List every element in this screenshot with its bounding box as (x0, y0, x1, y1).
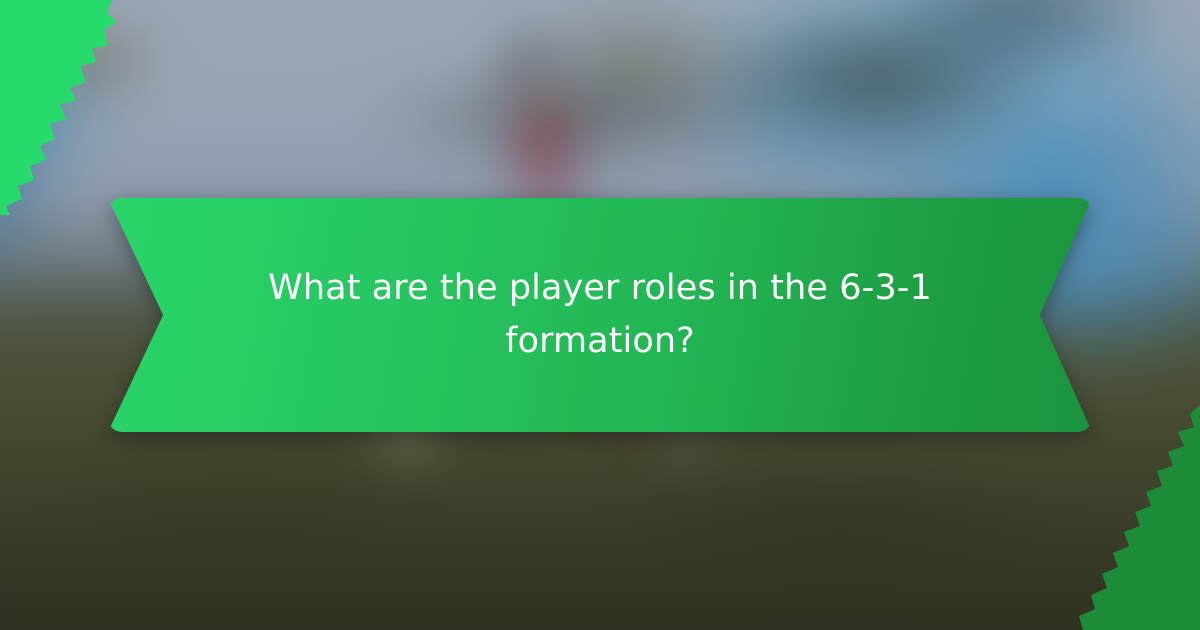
question-ribbon-banner: What are the player roles in the 6-3-1 f… (108, 198, 1092, 432)
question-text: What are the player roles in the 6-3-1 f… (108, 198, 1092, 432)
share-card: What are the player roles in the 6-3-1 f… (0, 0, 1200, 630)
